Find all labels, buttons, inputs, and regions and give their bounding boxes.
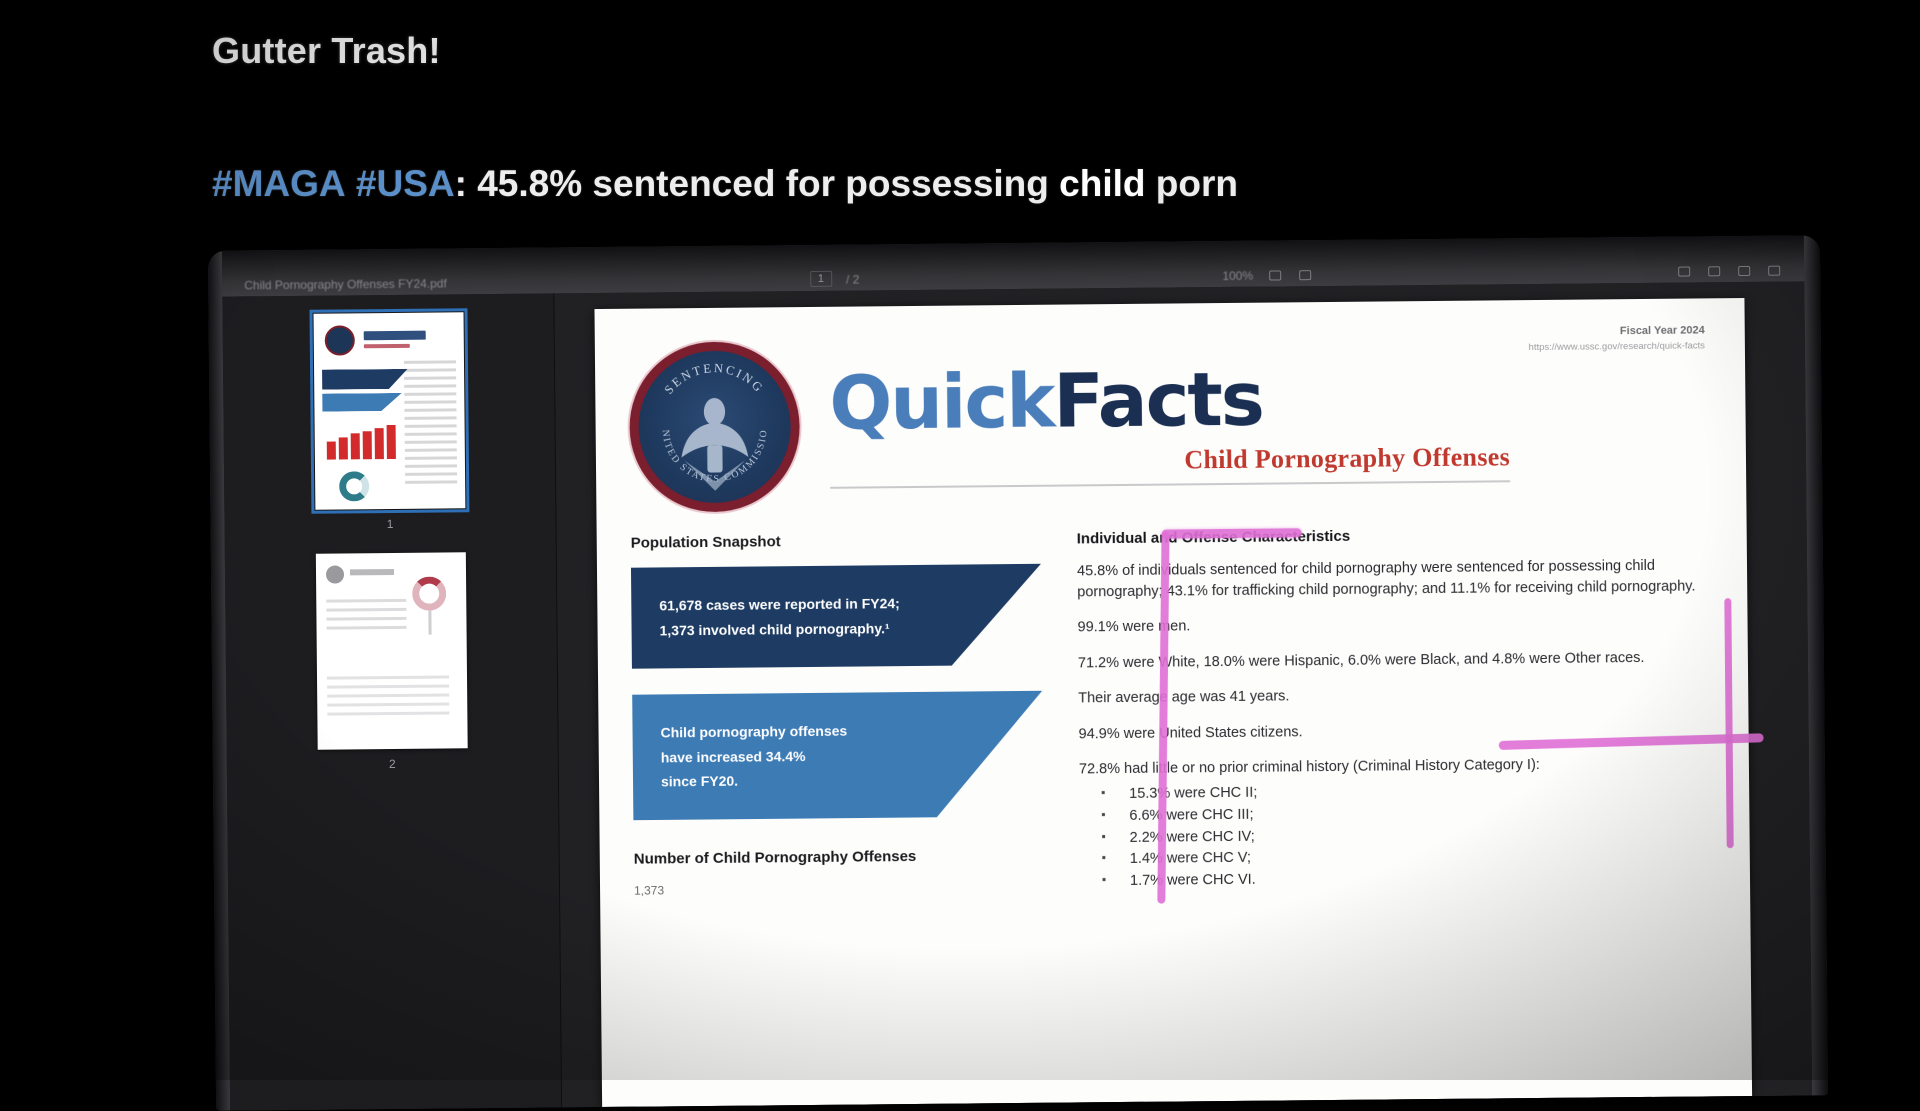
thumb2-text-lines	[326, 599, 406, 636]
logo-facts: Facts	[1053, 356, 1263, 444]
paragraph-race: 71.2% were White, 18.0% were Hispanic, 6…	[1078, 647, 1708, 674]
zoom-level-label[interactable]: 100%	[1222, 269, 1253, 283]
document-header: SENTENCING UNITED STATES COMMISSION	[629, 332, 1707, 512]
document-scroll-area[interactable]: Fiscal Year 2024 https://www.ussc.gov/re…	[554, 281, 1812, 1107]
document-subtitle: Child Pornography Offenses	[830, 442, 1510, 479]
zoom-out-icon[interactable]	[1267, 268, 1283, 282]
thumbnail-item-2[interactable]: 2	[315, 552, 467, 787]
thumb2-title-block	[349, 569, 393, 575]
paragraph-offense-type: 45.8% of individuals sentenced for child…	[1077, 555, 1707, 602]
headline-colon: :	[455, 163, 478, 204]
page-thumbnail-1[interactable]	[313, 312, 465, 509]
pdf-viewer-window: Child Pornography Offenses FY24.pdf 1 / …	[208, 235, 1828, 1110]
thumbnail-page-label-2: 2	[389, 757, 396, 771]
source-url: https://www.ussc.gov/research/quick-fact…	[1528, 339, 1704, 355]
toolbar-spacer-2	[873, 283, 1208, 286]
post-headline: #MAGA #USA: 45.8% sentenced for possessi…	[212, 163, 1238, 205]
thumb-text-lines	[403, 360, 456, 488]
document-meta: Fiscal Year 2024 https://www.ussc.gov/re…	[1528, 322, 1705, 354]
pdf-filename: Child Pornography Offenses FY24.pdf	[244, 276, 447, 292]
fiscal-year-label: Fiscal Year 2024	[1528, 322, 1704, 340]
thumb2-stem	[428, 611, 431, 635]
download-icon[interactable]	[1706, 264, 1722, 278]
paragraph-criminal-history: 72.8% had little or no prior criminal hi…	[1079, 754, 1709, 781]
post-title: Gutter Trash!	[212, 30, 441, 72]
logo-quick: Quick	[829, 358, 1054, 446]
highlight-mark-side	[1724, 598, 1733, 848]
thumb-bar-chart	[326, 425, 395, 460]
page-number-input[interactable]: 1	[810, 271, 832, 287]
toolbar-spacer	[461, 287, 796, 290]
headline-text-1: 45.8% sentenced for possessing	[477, 163, 1059, 204]
thumbnail-sidebar[interactable]: 1 2	[222, 293, 562, 1110]
thumb-banner-dark	[322, 369, 408, 390]
viewer-body: 1 2	[222, 281, 1812, 1110]
headline-bold-word: child	[1059, 163, 1145, 204]
thumb2-seal-icon	[325, 565, 343, 583]
thumb2-text-lines-bottom	[327, 675, 449, 721]
chart-note: 1,373	[634, 879, 1044, 897]
document-page: Fiscal Year 2024 https://www.ussc.gov/re…	[594, 298, 1752, 1107]
bullet-chc-6: 1.7% were CHC VI.	[1102, 865, 1710, 893]
thumbnail-item-1[interactable]: 1	[313, 312, 465, 547]
thumb-banner-light	[322, 393, 402, 412]
banner-light-line-3: since FY20.	[661, 767, 953, 794]
document-columns: Population Snapshot 61,678 cases were re…	[631, 524, 1710, 897]
hashtag-usa[interactable]: #USA	[356, 163, 455, 204]
banner-dark-line-2: 1,373 involved child pornography.¹	[659, 615, 951, 642]
chart-heading: Number of Child Pornography Offenses	[634, 846, 1044, 867]
thumb-donut-chart	[339, 471, 369, 501]
paragraph-gender: 99.1% were men.	[1077, 612, 1707, 639]
rotate-icon[interactable]	[1676, 265, 1692, 279]
thumb-subtitle-block	[363, 344, 409, 348]
highlight-mark-top	[1162, 528, 1302, 538]
chc-bullet-list: 15.3% were CHC II; 6.6% were CHC III; 2.…	[1101, 778, 1710, 893]
svg-text:SENTENCING: SENTENCING	[661, 360, 766, 397]
left-column: Population Snapshot 61,678 cases were re…	[631, 531, 1044, 898]
more-icon[interactable]	[1766, 264, 1782, 278]
header-divider	[830, 480, 1510, 489]
toolbar-spacer-3	[1327, 279, 1662, 282]
banner-light-line-1: Child pornography offenses	[660, 718, 952, 745]
thumbnail-page-label-1: 1	[387, 517, 394, 531]
banner-light-line-2: have increased 34.4%	[661, 742, 953, 769]
headline-text-2: porn	[1146, 163, 1238, 204]
page-thumbnail-2[interactable]	[315, 552, 467, 749]
thumb-title-block	[363, 331, 425, 341]
paragraph-age: Their average age was 41 years.	[1078, 683, 1708, 710]
thumb-seal-icon	[324, 325, 354, 355]
population-snapshot-heading: Population Snapshot	[631, 531, 1041, 552]
brand-block: QuickFacts Child Pornography Offenses	[829, 362, 1510, 489]
right-column: Individual and Offense Characteristics 4…	[1077, 524, 1710, 893]
hashtag-maga[interactable]: #MAGA	[212, 163, 346, 204]
quickfacts-logo: QuickFacts	[829, 362, 1510, 439]
ussc-seal-icon: SENTENCING UNITED STATES COMMISSION	[629, 341, 801, 513]
zoom-in-icon[interactable]	[1297, 268, 1313, 282]
banner-cases-reported: 61,678 cases were reported in FY24; 1,37…	[631, 564, 1042, 669]
page-total-label: / 2	[846, 273, 859, 287]
banner-dark-line-1: 61,678 cases were reported in FY24;	[659, 591, 951, 618]
print-icon[interactable]	[1736, 264, 1752, 278]
thumb2-donut-chart	[412, 576, 446, 610]
banner-increase: Child pornography offenses have increase…	[632, 691, 1043, 820]
